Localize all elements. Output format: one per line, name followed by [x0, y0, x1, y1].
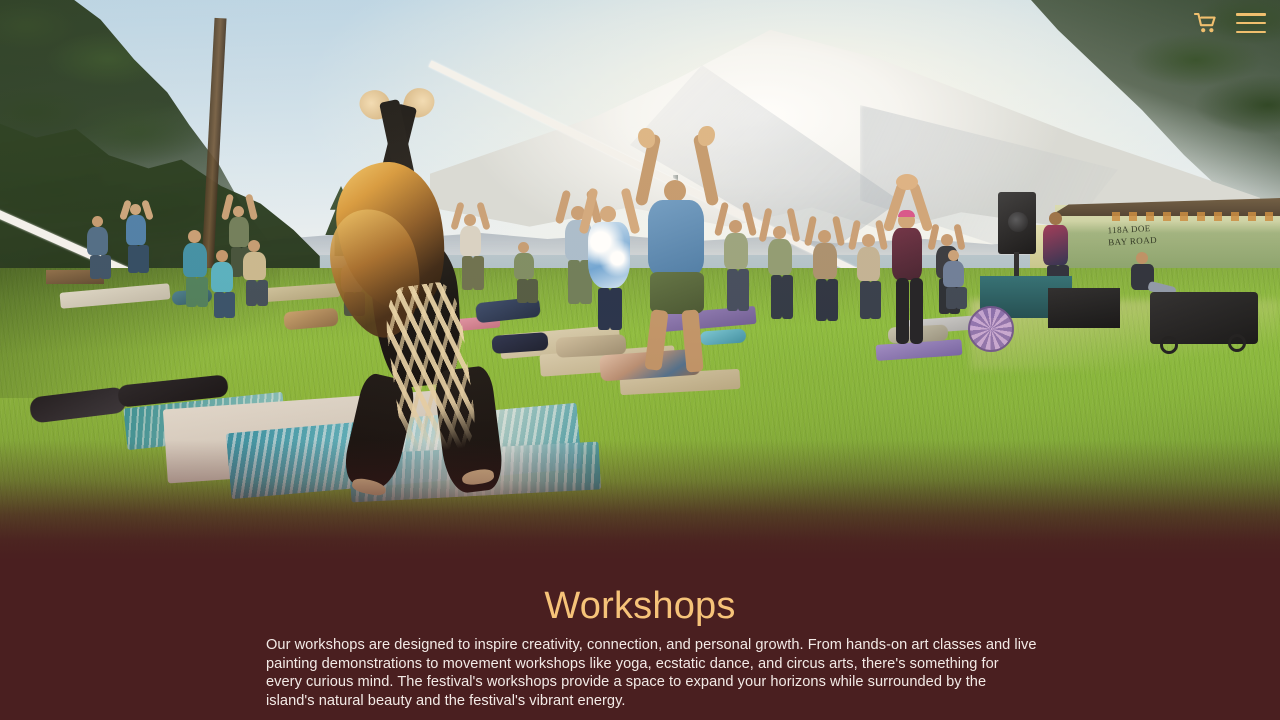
section-description: Our workshops are designed to inspire cr…	[266, 636, 1038, 710]
site-header	[0, 0, 1280, 46]
menu-button[interactable]	[1236, 13, 1266, 33]
hero-photo: 118A DOE BAY ROAD	[0, 0, 1280, 560]
shopping-cart-icon	[1194, 12, 1218, 34]
mandala-disc	[968, 306, 1014, 352]
speaker-cone	[1008, 212, 1028, 232]
hamburger-menu-icon	[1236, 13, 1266, 33]
page-root: 118A DOE BAY ROAD	[0, 0, 1280, 720]
cart-button[interactable]	[1194, 12, 1218, 34]
hero-image: 118A DOE BAY ROAD	[0, 0, 1280, 560]
subwoofer-case	[1048, 288, 1120, 328]
foreground-dancer	[300, 88, 500, 438]
building-address-sign: 118A DOE BAY ROAD	[1107, 220, 1198, 255]
cart-wheel	[1228, 334, 1246, 352]
photo-bottom-fade	[0, 440, 1280, 560]
page-title: Workshops	[0, 584, 1280, 628]
workshops-section: Workshops Our workshops are designed to …	[0, 560, 1280, 720]
cart-wheel	[1160, 336, 1178, 354]
